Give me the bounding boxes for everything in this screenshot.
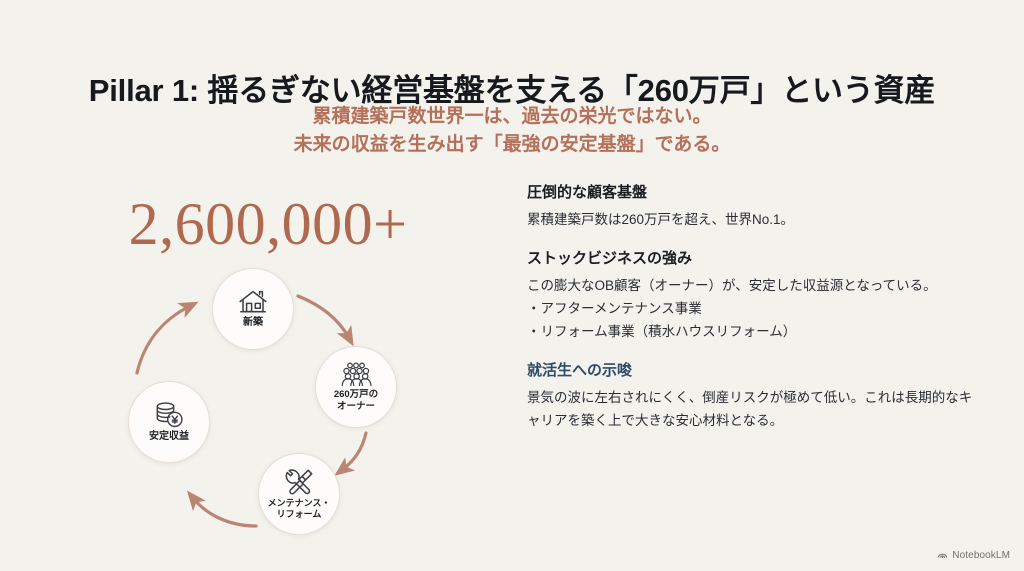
coins-yen-icon xyxy=(154,402,184,429)
cycle-node-label: 安定収益 xyxy=(149,431,189,443)
arrow-new-to-owners xyxy=(298,296,349,338)
block-body: 累積建築戸数は260万戸を超え、世界No.1。 xyxy=(527,208,979,231)
house-icon xyxy=(238,289,268,315)
subtitle-line-2: 未来の収益を生み出す「最強の安定基盤」である。 xyxy=(0,131,1024,159)
cycle-diagram: 新築 260万戸の オーナー xyxy=(110,258,420,553)
content-block-customer-base: 圧倒的な顧客基盤 累積建築戸数は260万戸を超え、世界No.1。 xyxy=(527,182,979,231)
cycle-node-label: 新築 xyxy=(243,317,263,329)
notebooklm-logo-icon xyxy=(937,548,948,562)
body-line: この膨大なOB顧客（オーナー）が、安定した収益源となっている。 xyxy=(527,274,979,297)
block-heading: 圧倒的な顧客基盤 xyxy=(527,182,979,204)
content-column: 圧倒的な顧客基盤 累積建築戸数は260万戸を超え、世界No.1。 ストックビジネ… xyxy=(527,182,979,432)
cycle-node-maintenance[interactable]: メンテナンス・ リフォーム xyxy=(258,453,340,535)
watermark-label: NotebookLM xyxy=(952,550,1010,561)
arrow-owners-to-maintenance xyxy=(342,433,366,470)
arrow-revenue-to-new xyxy=(137,306,190,373)
block-heading: ストックビジネスの強み xyxy=(527,248,979,270)
block-heading: 就活生への示唆 xyxy=(527,360,979,382)
subtitle-line-1: 累積建築戸数世界一は、過去の栄光ではない。 xyxy=(0,103,1024,131)
cycle-node-owners[interactable]: 260万戸の オーナー xyxy=(315,346,397,428)
body-line: 景気の波に左右されにくく、倒産リスクが極めて低い。これは長期的なキャリアを築く上… xyxy=(527,386,979,432)
block-body: 景気の波に左右されにくく、倒産リスクが極めて低い。これは長期的なキャリアを築く上… xyxy=(527,386,979,432)
wrench-paintbrush-icon xyxy=(284,468,314,496)
people-group-icon xyxy=(339,362,373,387)
block-body: この膨大なOB顧客（オーナー）が、安定した収益源となっている。 ・アフターメンテ… xyxy=(527,274,979,343)
cycle-node-new-construction[interactable]: 新築 xyxy=(212,268,294,350)
body-line: 累積建築戸数は260万戸を超え、世界No.1。 xyxy=(527,208,979,231)
cycle-node-stable-revenue[interactable]: 安定収益 xyxy=(128,381,210,463)
cycle-node-label: メンテナンス・ リフォーム xyxy=(268,498,331,520)
cycle-node-label: 260万戸の オーナー xyxy=(334,389,378,412)
big-number-stat: 2,600,000+ xyxy=(58,192,478,256)
arrow-maintenance-to-revenue xyxy=(193,498,256,526)
bullet-item: ・リフォーム事業（積水ハウスリフォーム） xyxy=(527,320,979,343)
slide-subtitle: 累積建築戸数世界一は、過去の栄光ではない。 未来の収益を生み出す「最強の安定基盤… xyxy=(0,103,1024,159)
content-block-stock-business: ストックビジネスの強み この膨大なOB顧客（オーナー）が、安定した収益源となって… xyxy=(527,248,979,343)
slide-canvas: Pillar 1: 揺るぎない経営基盤を支える「260万戸」という資産 累積建築… xyxy=(0,0,1024,571)
bullet-item: ・アフターメンテナンス事業 xyxy=(527,297,979,320)
notebooklm-watermark: NotebookLM xyxy=(937,548,1010,562)
content-block-jobseeker-insight: 就活生への示唆 景気の波に左右されにくく、倒産リスクが極めて低い。これは長期的な… xyxy=(527,360,979,432)
